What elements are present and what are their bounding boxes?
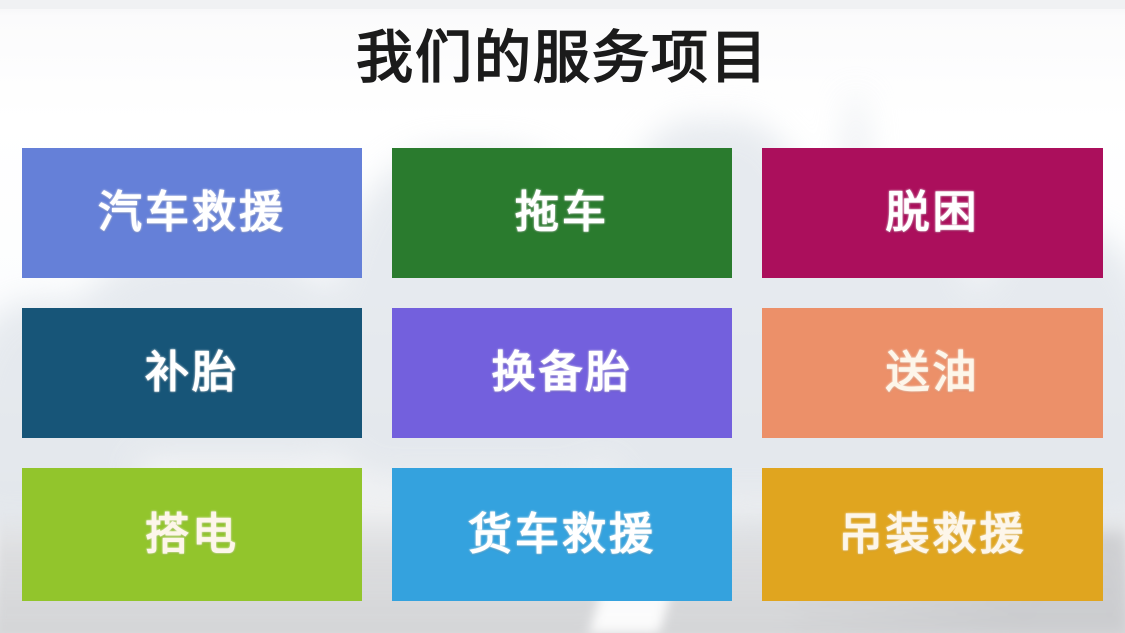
service-tile-fuel-delivery[interactable]: 送油 [762,308,1103,438]
service-tile-spare-tire-change[interactable]: 换备胎 [392,308,732,438]
service-tile-truck-rescue[interactable]: 货车救援 [392,468,732,601]
service-tile-label: 补胎 [145,348,239,398]
service-tile-label: 货车救援 [468,510,656,560]
service-tile-label: 拖车 [515,188,609,238]
service-tile-towing[interactable]: 拖车 [392,148,732,278]
service-tile-jump-start[interactable]: 搭电 [22,468,362,601]
service-tile-label: 吊装救援 [839,510,1027,560]
service-tile-label: 脱困 [886,188,980,238]
service-tile-extrication[interactable]: 脱困 [762,148,1103,278]
service-tile-label: 汽车救援 [98,188,286,238]
top-edge-band [0,0,1125,9]
service-tile-label: 搭电 [145,510,239,560]
service-tile-car-rescue[interactable]: 汽车救援 [22,148,362,278]
page-title: 我们的服务项目 [0,24,1125,92]
service-tile-label: 换备胎 [492,348,633,398]
service-tile-crane-rescue[interactable]: 吊装救援 [762,468,1103,601]
service-poster: 我们的服务项目 汽车救援 拖车 脱困 补胎 换备胎 送油 搭电 货车救援 吊装救… [0,0,1125,633]
service-tile-tire-repair[interactable]: 补胎 [22,308,362,438]
service-tile-label: 送油 [886,348,980,398]
service-grid: 汽车救援 拖车 脱困 补胎 换备胎 送油 搭电 货车救援 吊装救援 [22,148,1103,601]
